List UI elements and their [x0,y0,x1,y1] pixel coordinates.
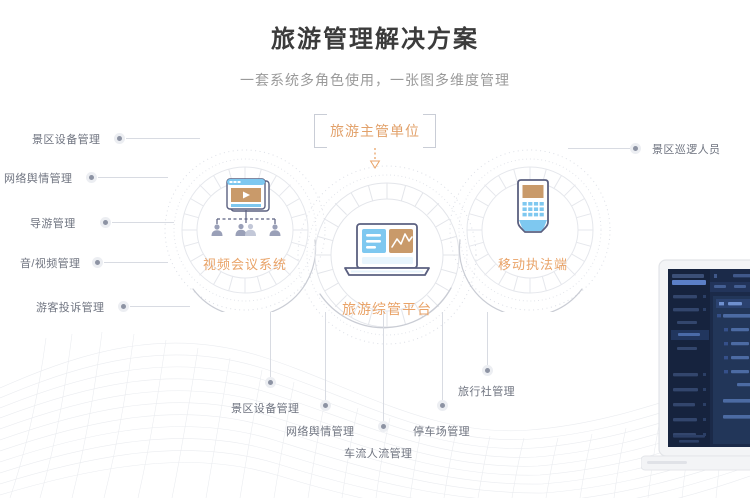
connector-label-left-3[interactable]: 导游管理 [30,215,76,231]
connector-dot-right-1[interactable] [630,143,641,154]
solution-diagram-page: 旅游管理解决方案 一套系统多角色使用，一张图多维度管理 旅游主管单位 [0,0,750,498]
connector-label-bottom-3[interactable]: 车流人流管理 [344,445,412,461]
connector-line-left-2 [98,177,168,178]
badge-arrow-icon [369,148,381,170]
laptop-dashboard-icon [339,222,435,284]
connector-line-left-1 [126,138,200,139]
connector-dot-bottom-1[interactable] [265,377,276,388]
authority-badge[interactable]: 旅游主管单位 [314,114,436,148]
node-tourism-platform[interactable]: 旅游综管平台 [307,222,467,319]
connector-dot-bottom-3[interactable] [378,421,389,432]
connector-label-bottom-2[interactable]: 网络舆情管理 [286,423,354,439]
connector-line-right-1 [568,148,630,149]
connector-dot-bottom-5[interactable] [482,365,493,376]
header: 旅游管理解决方案 一套系统多角色使用，一张图多维度管理 [0,24,750,90]
node-label-mobile-enforcement: 移动执法端 [453,254,613,273]
connector-label-left-4[interactable]: 音/视频管理 [20,255,80,271]
node-mobile-enforcement[interactable]: 移动执法端 [453,178,613,273]
connector-line-bottom-1 [270,312,271,377]
laptop-mockup [641,252,750,498]
connector-label-bottom-5[interactable]: 旅行社管理 [458,383,515,399]
connector-label-left-2[interactable]: 网络舆情管理 [4,170,72,186]
connector-dot-bottom-4[interactable] [437,400,448,411]
connector-line-bottom-4 [442,312,443,400]
page-subtitle: 一套系统多角色使用，一张图多维度管理 [0,70,750,90]
connector-line-bottom-3 [383,312,384,421]
mobile-device-icon [510,178,556,240]
connector-label-bottom-4[interactable]: 停车场管理 [413,423,470,439]
connector-dot-bottom-2[interactable] [320,400,331,411]
connector-line-left-5 [130,306,190,307]
node-video-conference[interactable]: 视频会议系统 [165,178,325,273]
connector-dot-left-1[interactable] [114,133,125,144]
node-label-video-conference: 视频会议系统 [165,254,325,273]
node-label-tourism-platform: 旅游综管平台 [307,299,467,319]
connector-label-left-1[interactable]: 景区设备管理 [32,131,100,147]
connector-label-left-5[interactable]: 游客投诉管理 [36,299,104,315]
connector-dot-left-3[interactable] [100,217,111,228]
connector-dot-left-5[interactable] [118,301,129,312]
connector-label-right-1[interactable]: 景区巡逻人员 [652,141,720,157]
connector-line-bottom-5 [487,312,488,365]
connector-label-bottom-1[interactable]: 景区设备管理 [231,400,299,416]
connector-line-left-4 [104,262,168,263]
connector-line-bottom-2 [325,312,326,400]
page-title: 旅游管理解决方案 [0,24,750,56]
connector-dot-left-2[interactable] [86,172,97,183]
connector-dot-left-4[interactable] [92,257,103,268]
video-window-icon [203,178,287,240]
